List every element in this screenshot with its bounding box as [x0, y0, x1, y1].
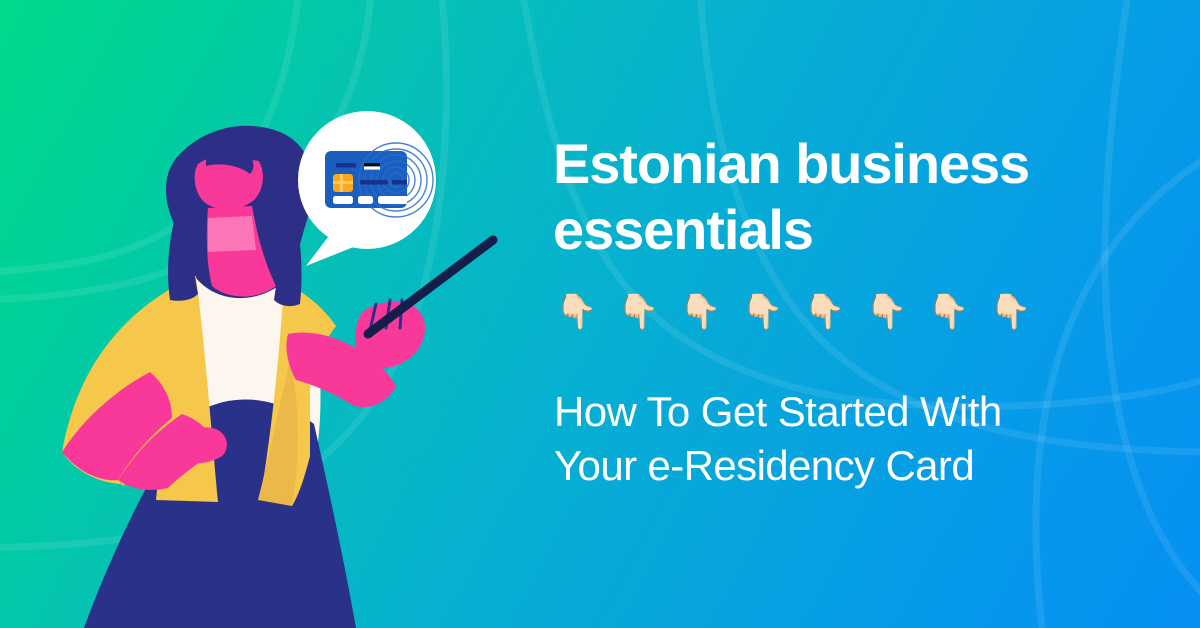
pointer-stick: [368, 240, 493, 334]
pointing-down-icon: 👇🏻: [555, 287, 617, 337]
banner: Estonian business essentials 👇🏻 👇🏻 👇🏻 👇🏻…: [0, 0, 1200, 628]
text-column: Estonian business essentials 👇🏻 👇🏻 👇🏻 👇🏻…: [553, 0, 1153, 628]
woman-with-pointer-illustration: [0, 0, 520, 628]
estonian-flag: [364, 160, 380, 170]
pointing-down-icon: 👇🏻: [679, 287, 741, 337]
card-line-mid-1: [360, 180, 388, 185]
card-box-2: [358, 196, 373, 204]
card-line-top: [336, 163, 356, 168]
pointing-down-icon: 👇🏻: [989, 287, 1051, 337]
neck-texture: [208, 216, 256, 252]
pointing-down-icon: 👇🏻: [803, 287, 865, 337]
page-subtitle: How To Get Started With Your e-Residency…: [554, 385, 1094, 493]
pointing-down-icon: 👇🏻: [927, 287, 989, 337]
page-title: Estonian business essentials: [553, 131, 1093, 262]
card-box-1: [333, 196, 353, 204]
pointing-down-icon: 👇🏻: [865, 287, 927, 337]
card-box-3: [378, 196, 408, 204]
pointing-down-icon: 👇🏻: [617, 287, 679, 337]
pointing-down-emoji-row: 👇🏻 👇🏻 👇🏻 👇🏻 👇🏻 👇🏻 👇🏻 👇🏻: [555, 287, 1055, 337]
pointing-down-icon: 👇🏻: [741, 287, 803, 337]
